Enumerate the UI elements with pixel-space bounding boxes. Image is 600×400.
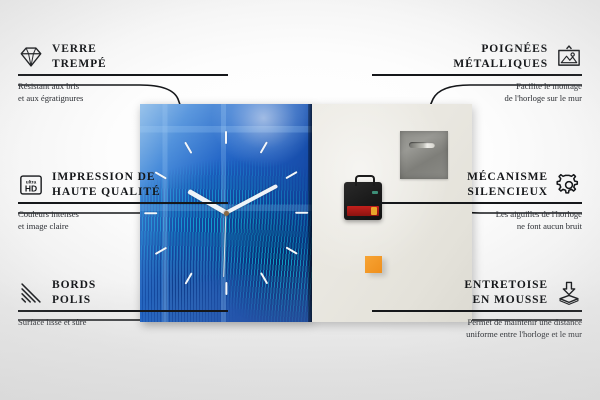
picture-frame-hanger-icon [556,44,582,70]
callout-verre-trempe[interactable]: VERRETREMPÉ Résistant aux briset aux égr… [18,42,228,105]
callout-title: MÉCANISMESILENCIEUX [467,170,548,199]
diamond-icon [18,44,44,70]
callout-title: POIGNÉESMÉTALLIQUES [453,42,548,71]
callout-impression-haute-qualite[interactable]: ultra HD IMPRESSION DEHAUTE QUALITÉ Coul… [18,170,228,233]
hanger-keyhole-slot [409,142,435,148]
callout-header: ultra HD IMPRESSION DEHAUTE QUALITÉ [18,170,228,199]
callout-bords-polis[interactable]: BORDSPOLIS Surface lisse et sûre [18,278,228,328]
callout-title: ENTRETOISEEN MOUSSE [464,278,548,307]
callout-subtitle: Résistant aux briset aux égratignures [18,80,228,105]
callout-header: BORDSPOLIS [18,278,228,307]
callout-rule [372,202,582,204]
svg-text:HD: HD [25,183,37,193]
callout-mecanisme-silencieux[interactable]: MÉCANISMESILENCIEUX Les aiguilles de l'h… [372,170,582,233]
callout-subtitle: Facilite le montagede l'horloge sur le m… [372,80,582,105]
callout-rule [372,74,582,76]
foam-spacer [365,256,382,273]
callout-header: ENTRETOISEEN MOUSSE [372,278,582,307]
diagonal-lines-icon [18,280,44,306]
callout-subtitle: Permet de maintenir une distanceuniforme… [372,316,582,341]
callout-header: MÉCANISMESILENCIEUX [372,170,582,199]
ultra-hd-icon: ultra HD [18,172,44,198]
callout-title: BORDSPOLIS [52,278,96,307]
callout-header: POIGNÉESMÉTALLIQUES [372,42,582,71]
callout-rule [18,202,228,204]
callout-rule [372,310,582,312]
callout-subtitle: Les aiguilles de l'horlogene font aucun … [372,208,582,233]
callout-subtitle: Couleurs intenseset image claire [18,208,228,233]
callout-subtitle: Surface lisse et sûre [18,316,228,328]
foam-spacer-arrow-icon [556,280,582,306]
infographic-canvas: VERRETREMPÉ Résistant aux briset aux égr… [0,0,600,400]
callout-poignees-metalliques[interactable]: POIGNÉESMÉTALLIQUES Facilite le montaged… [372,42,582,105]
callout-rule [18,310,228,312]
callout-title: IMPRESSION DEHAUTE QUALITÉ [52,170,161,199]
gear-icon [556,172,582,198]
callout-rule [18,74,228,76]
callout-title: VERRETREMPÉ [52,42,107,71]
callout-header: VERRETREMPÉ [18,42,228,71]
callout-entretoise-en-mousse[interactable]: ENTRETOISEEN MOUSSE Permet de maintenir … [372,278,582,341]
